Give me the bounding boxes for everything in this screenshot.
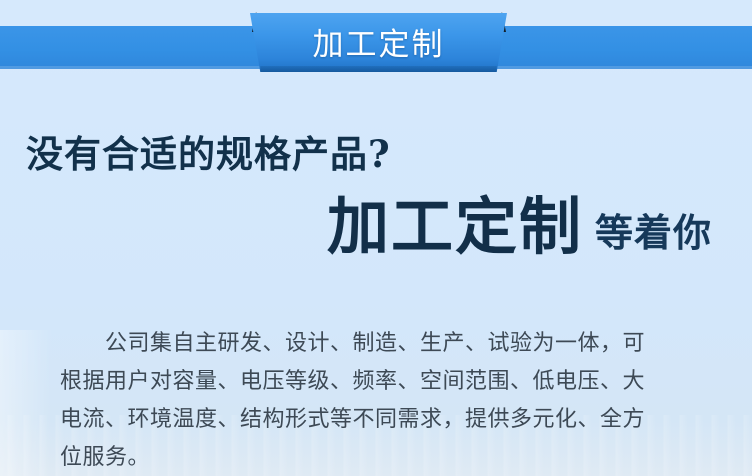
body-paragraph: 公司集自主研发、设计、制造、生产、试验为一体，可 根据用户对容量、电压等级、频率…	[60, 325, 700, 476]
body-line: 电流、环境温度、结构形式等不同需求，提供多元化、全方	[60, 401, 700, 439]
section-question-heading: 没有合适的规格产品?	[26, 124, 391, 178]
headline-secondary: 等着你	[595, 214, 712, 252]
headline-primary: 加工定制	[327, 196, 583, 258]
promo-banner: 加工定制 没有合适的规格产品? 加工定制 等着你 公司集自主研发、设计、制造、生…	[0, 0, 752, 476]
body-line: 根据用户对容量、电压等级、频率、空间范围、低电压、大	[60, 363, 700, 401]
headline-row: 加工定制 等着你	[0, 196, 712, 258]
body-line: 公司集自主研发、设计、制造、生产、试验为一体，可	[60, 325, 700, 363]
ribbon-title: 加工定制	[250, 13, 507, 69]
body-line: 位服务。	[60, 439, 700, 476]
background-left-glow	[0, 330, 52, 476]
ribbon-header: 加工定制	[0, 0, 752, 90]
